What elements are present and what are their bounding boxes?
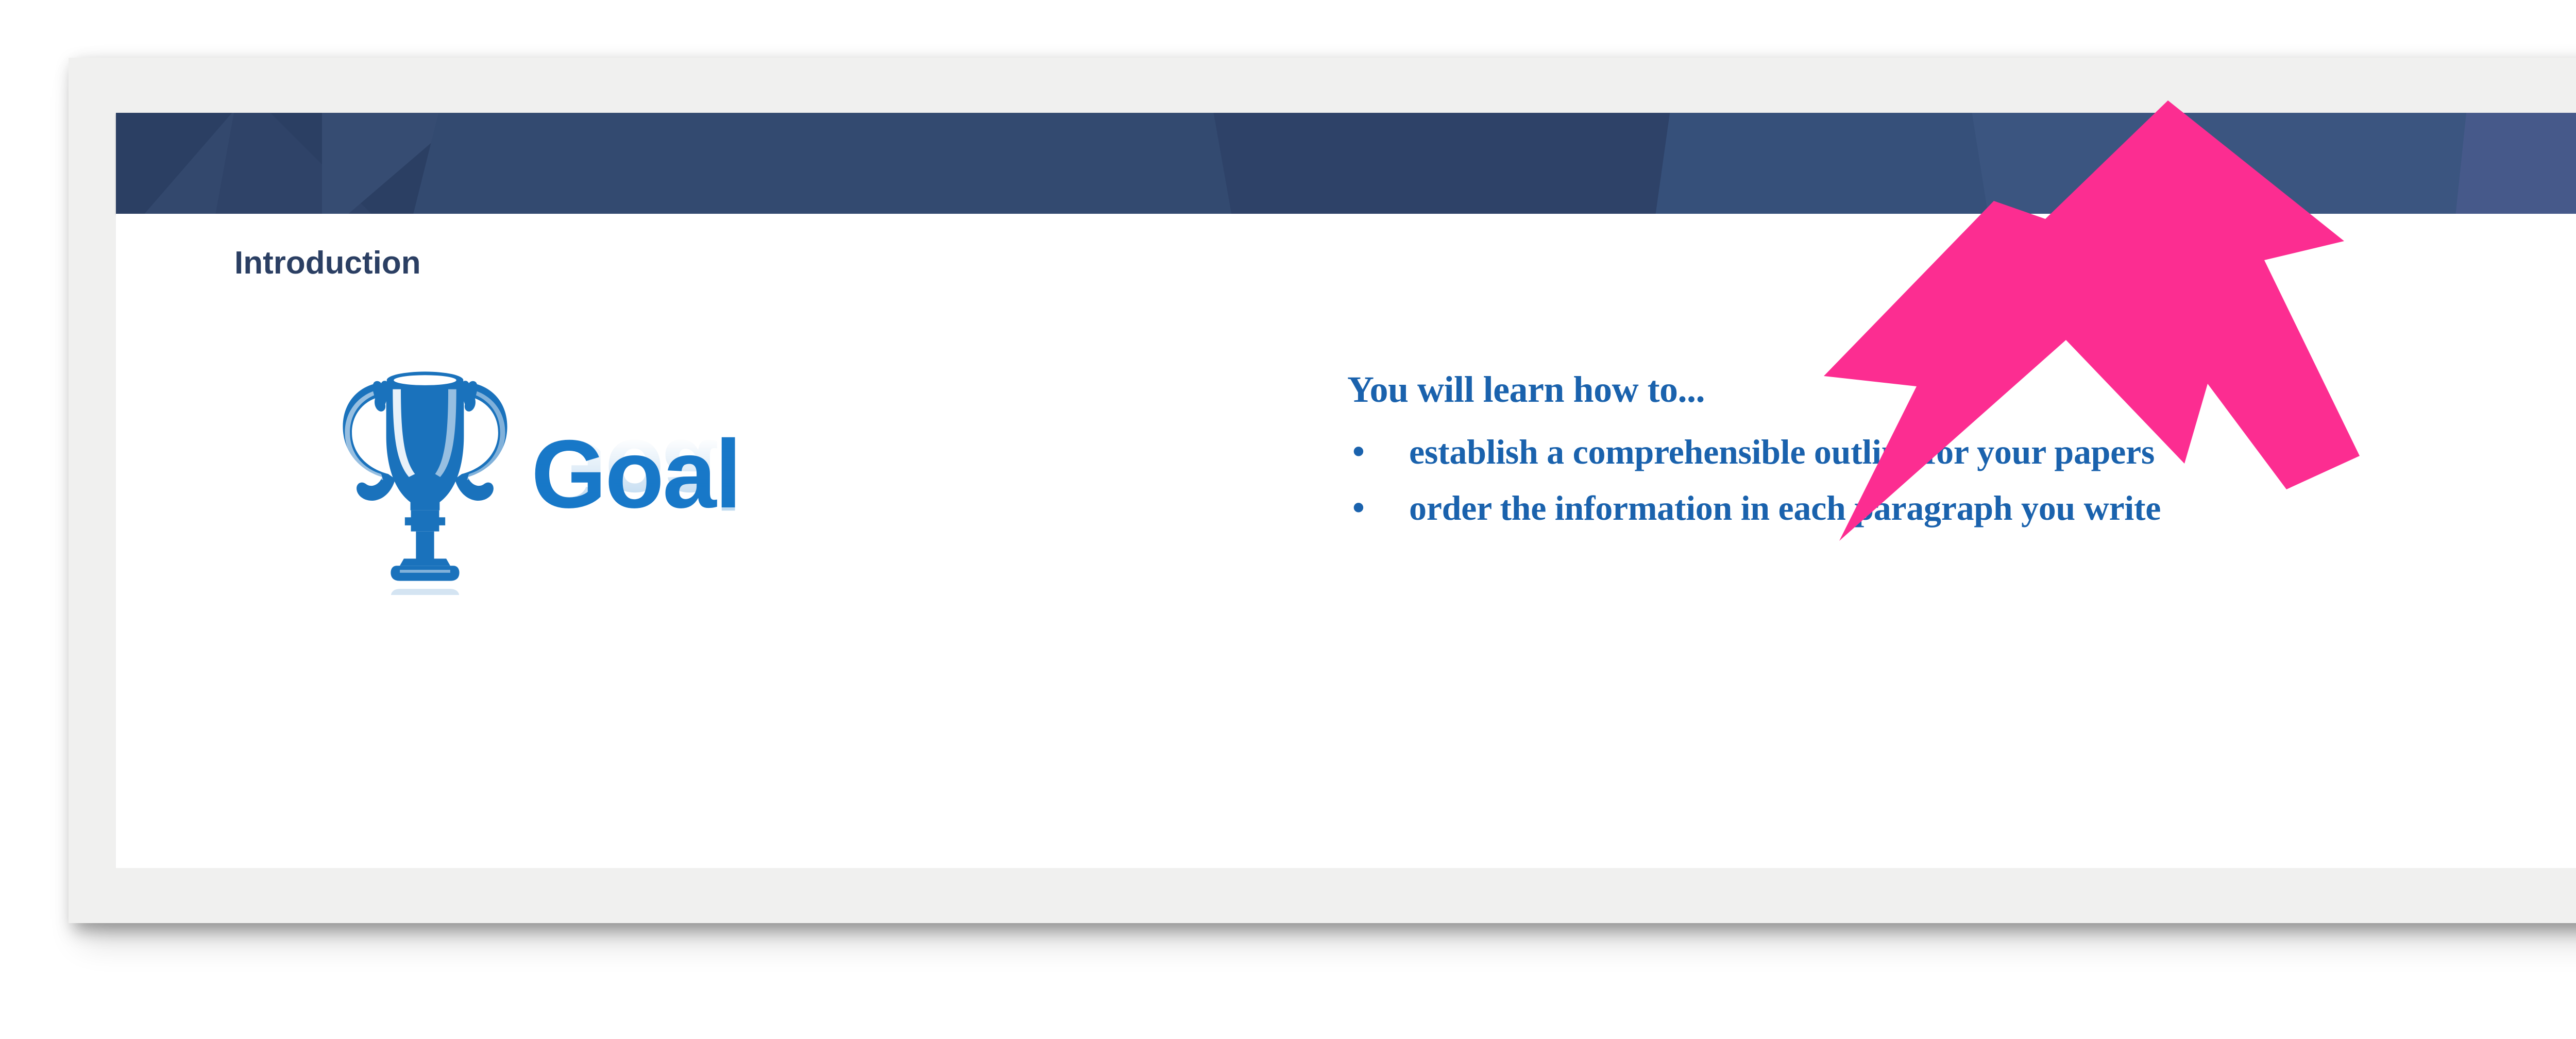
goal-word: Goal xyxy=(531,434,740,514)
objective-text: establish a comprehensible outline for y… xyxy=(1409,434,2155,470)
lesson-window-card: Term papers: structures Introduction xyxy=(69,58,2576,923)
objective-text: order the information in each paragraph … xyxy=(1409,490,2161,526)
page-title: Introduction xyxy=(234,245,421,281)
objectives-lead: You will learn how to... xyxy=(1347,368,2576,411)
header-facet xyxy=(408,113,1266,214)
goal-word-wrap: Goal Goal xyxy=(531,434,740,514)
trophy-icon xyxy=(322,358,528,595)
slide-content-area: Introduction xyxy=(116,214,2576,868)
header-facet xyxy=(2453,113,2576,214)
list-item: • establish a comprehensible outline for… xyxy=(1347,434,2576,470)
list-item: • order the information in each paragrap… xyxy=(1347,490,2576,526)
header-facet xyxy=(1212,113,1699,214)
bullet-icon: • xyxy=(1347,434,1409,469)
lesson-header-bar: Term papers: structures xyxy=(116,113,2576,214)
goal-graphic: Goal Goal xyxy=(322,358,1002,646)
bullet-icon: • xyxy=(1347,490,1409,525)
learning-objectives: You will learn how to... • establish a c… xyxy=(1347,368,2576,546)
